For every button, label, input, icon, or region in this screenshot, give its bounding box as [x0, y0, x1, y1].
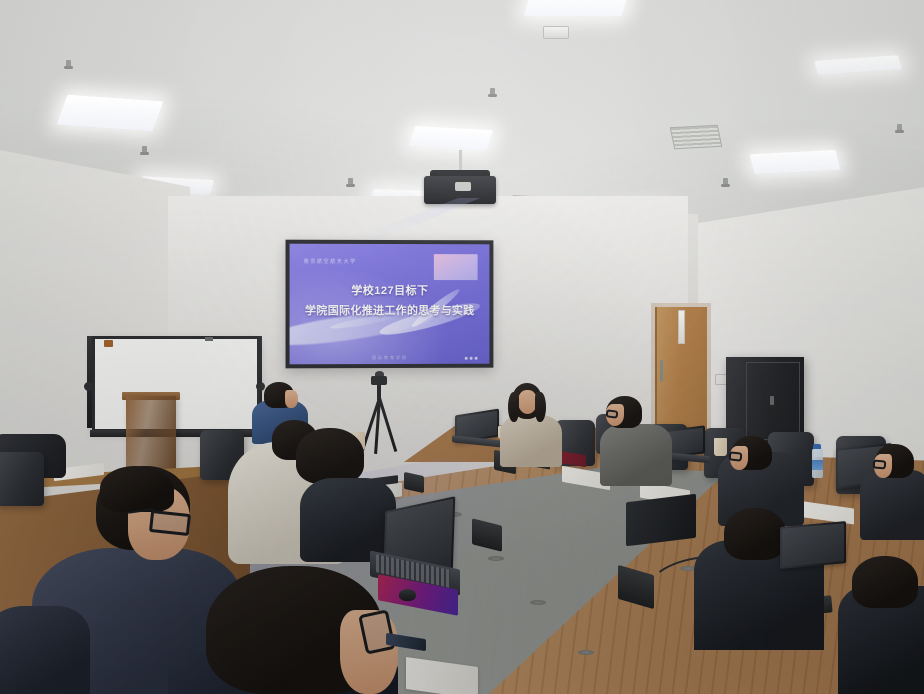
table-cable-port: [578, 650, 594, 655]
fire-sprinkler: [723, 178, 728, 187]
whiteboard-pivot-knob[interactable]: [84, 382, 93, 391]
table-cable-port: [488, 556, 504, 561]
presenter-hair-side: [508, 392, 519, 422]
table-cable-port: [530, 600, 546, 605]
eyeglasses: [873, 459, 887, 469]
wooden-lectern: [126, 396, 176, 474]
attendee-torso: [600, 424, 672, 486]
attendee-torso: [0, 606, 90, 694]
office-chair[interactable]: [0, 452, 44, 506]
attendee-hair-front: [100, 466, 174, 512]
computer-mouse[interactable]: [399, 589, 416, 601]
rack-latch[interactable]: [770, 396, 774, 405]
projected-slide: 南京航空航天大学 学校127目标下 学院国际化推进工作的思考与实践 国际教育学院: [290, 244, 490, 365]
attendee-hair: [852, 556, 918, 608]
slide-decorative-swatch: [434, 254, 478, 280]
projector-lens: [455, 182, 471, 191]
door-handle[interactable]: [660, 360, 663, 382]
attendee-face: [285, 390, 298, 408]
laptop-screen: [782, 523, 844, 566]
door-signage-strip: [678, 310, 685, 344]
slide-title-line-2: 学院国际化推进工作的思考与实践: [290, 302, 490, 318]
presenter-torso: [500, 415, 562, 467]
bottle-cap: [813, 444, 821, 449]
eyeglasses: [149, 510, 191, 536]
slide-title-line-1: 学校127目标下: [290, 282, 490, 298]
ceiling-light-panel: [409, 126, 493, 150]
attendee-torso: [860, 470, 924, 540]
fire-sprinkler: [348, 178, 353, 187]
fire-sprinkler: [897, 124, 902, 133]
whiteboard-clip[interactable]: [205, 337, 213, 341]
whiteboard-pivot-knob[interactable]: [256, 382, 265, 391]
whiteboard[interactable]: [92, 336, 260, 432]
eyeglasses: [729, 451, 743, 461]
slide-footer-text: 国际教育学院: [290, 355, 490, 362]
slide-institution-logo: 南京航空航天大学: [304, 258, 357, 265]
fire-sprinkler: [490, 88, 495, 97]
fire-sprinkler: [66, 60, 71, 69]
smoke-detector: [543, 26, 569, 39]
bottle-label: [812, 460, 823, 470]
presenter-hair-side: [535, 392, 546, 422]
ceiling-light-panel: [524, 0, 628, 16]
slide-dot-decoration: [465, 357, 478, 360]
laptop[interactable]: [626, 494, 696, 547]
eyeglasses: [606, 409, 619, 419]
attendee-torso: [300, 478, 396, 562]
slide-title: 学校127目标下 学院国际化推进工作的思考与实践: [290, 282, 490, 318]
laptop[interactable]: [780, 521, 846, 569]
air-vent: [670, 125, 723, 150]
paper-cup[interactable]: [714, 438, 727, 456]
fire-sprinkler: [142, 146, 147, 155]
whiteboard-magnet[interactable]: [104, 340, 113, 347]
attendee-hair: [296, 428, 364, 484]
projection-screen: 南京航空航天大学 学校127目标下 学院国际化推进工作的思考与实践 国际教育学院: [286, 240, 494, 369]
attendee-hair: [724, 508, 786, 560]
meeting-room-photo: 南京航空航天大学 学校127目标下 学院国际化推进工作的思考与实践 国际教育学院: [0, 0, 924, 694]
